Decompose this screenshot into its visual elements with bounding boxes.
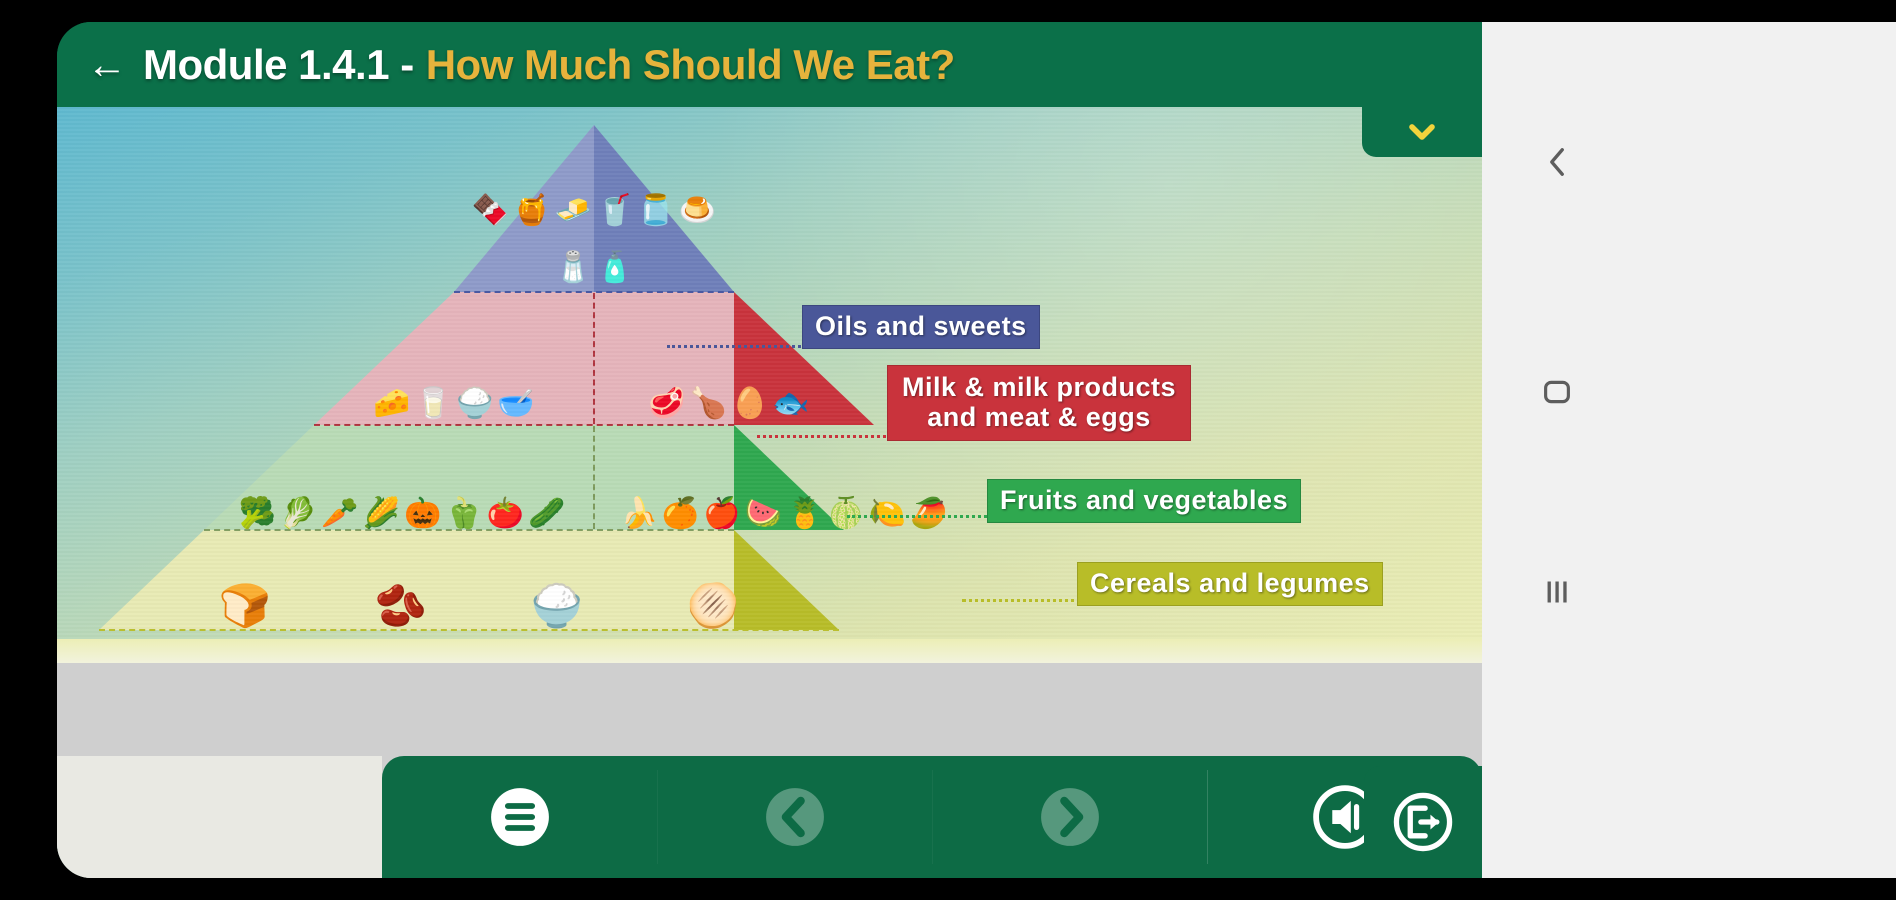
pyramid-label-milk-line1: Milk & milk products [902, 372, 1176, 402]
chevron-down-icon [1399, 117, 1445, 147]
exit-button[interactable] [1364, 766, 1482, 878]
pyramid-divider-2 [314, 424, 734, 426]
android-back-icon [1536, 141, 1578, 183]
pyramid-tier-oils-left [454, 125, 594, 292]
pyramid-tier-cereals-right [734, 530, 839, 630]
hamburger-menu-icon [483, 780, 557, 854]
android-recents-icon [1536, 571, 1578, 613]
pyramid-tier-cereals-mid [204, 530, 734, 630]
collapse-header-button[interactable] [1362, 107, 1482, 157]
pyramid-divider-3 [204, 529, 734, 531]
food-icon: 🍋 [869, 499, 906, 529]
app-viewport: ← Module 1.4.1 - How Much Should We Eat? [57, 22, 1482, 878]
page-title-module: Module 1.4.1 - [143, 41, 414, 89]
pyramid-tier-fruits-mid [314, 425, 734, 530]
android-back-button[interactable] [1482, 122, 1632, 202]
slide-bottom-fade [57, 639, 1482, 663]
pyramid-vertical-divider-milk [593, 293, 595, 424]
pyramid-tier-fruits-left [204, 425, 314, 530]
page-title-lesson: How Much Should We Eat? [426, 41, 955, 89]
android-navigation-bar [1482, 22, 1896, 878]
pyramid-label-milk-and-meat: Milk & milk products and meat & eggs [887, 365, 1191, 441]
bottom-left-strip [57, 756, 382, 878]
pyramid-label-cereals-and-legumes: Cereals and legumes [1077, 562, 1383, 606]
pyramid-tier-milk-left [314, 292, 454, 425]
leader-line-milk [757, 435, 892, 438]
pyramid-base-line [99, 629, 839, 631]
pyramid-tier-fruits-right [734, 425, 844, 530]
pyramid-label-fruits-and-vegetables: Fruits and vegetables [987, 479, 1301, 523]
app-header: ← Module 1.4.1 - How Much Should We Eat? [57, 22, 1482, 107]
pyramid-label-milk-line2: and meat & eggs [902, 402, 1176, 432]
exit-logout-icon [1389, 788, 1457, 856]
next-slide-button[interactable] [932, 756, 1207, 878]
pyramid-tier-oils-right [594, 125, 734, 292]
pyramid-label-oils-and-sweets: Oils and sweets [802, 305, 1040, 349]
leader-line-oils [667, 345, 807, 348]
leader-line-cereals [962, 599, 1082, 602]
lesson-slide: 🍫 🍯 🧈 🥤 🫙 🍮 🧂 🧴 🧀 🥛 🍚 🥣 🥩 [57, 107, 1482, 663]
pyramid-tier-cereals-left [99, 530, 204, 630]
back-arrow-icon[interactable]: ← [87, 45, 127, 85]
device-frame: ← Module 1.4.1 - How Much Should We Eat? [0, 0, 1896, 900]
previous-slide-button[interactable] [657, 756, 932, 878]
menu-button[interactable] [382, 756, 657, 878]
chevron-left-icon [758, 780, 832, 854]
android-home-button[interactable] [1482, 352, 1632, 432]
android-recents-button[interactable] [1482, 552, 1632, 632]
android-home-icon [1536, 371, 1578, 413]
chevron-right-icon [1033, 780, 1107, 854]
leader-line-fruits [847, 515, 992, 518]
lesson-toolbar [382, 756, 1482, 878]
pyramid-vertical-divider-fruits [593, 426, 595, 529]
food-icon: 🥭 [910, 499, 947, 529]
